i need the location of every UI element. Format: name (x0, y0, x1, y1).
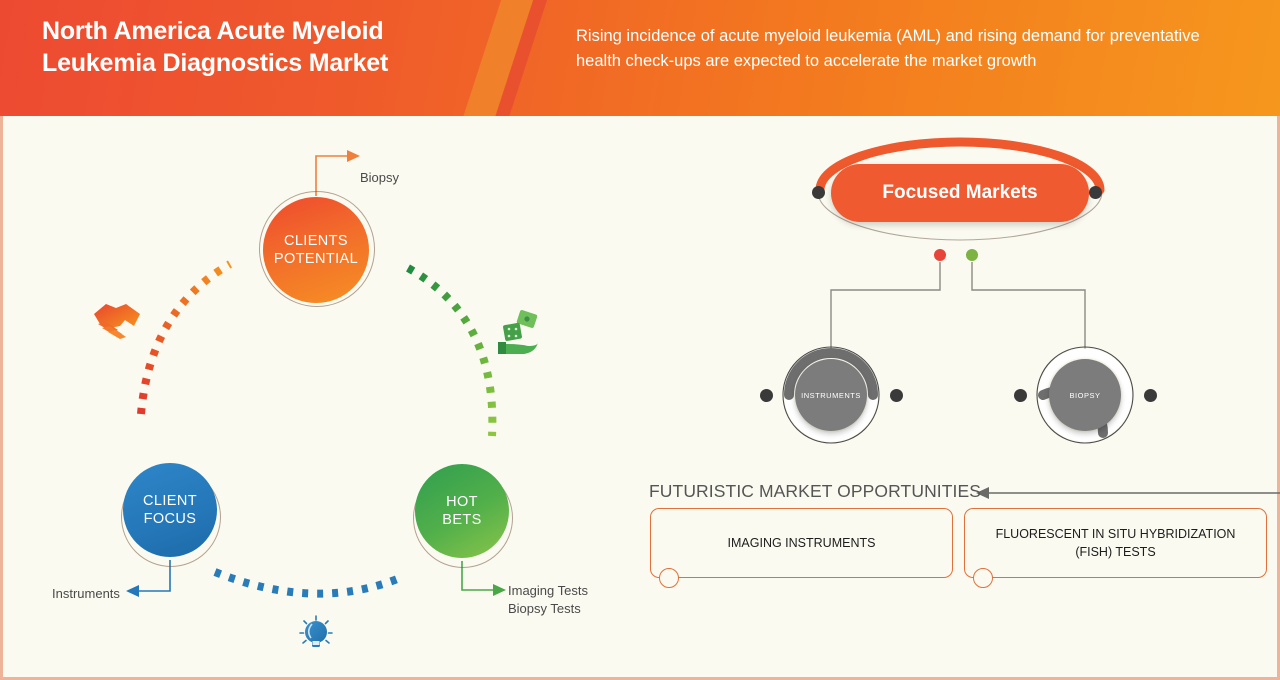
opportunity-box-fish-tests[interactable]: FLUORESCENT IN SITU HYBRIDIZATION (FISH)… (964, 508, 1267, 578)
futuristic-heading: FUTURISTIC MARKET OPPORTUNITIES (649, 481, 981, 502)
bubble-clients-line2: POTENTIAL (274, 251, 358, 267)
page-title: North America Acute Myeloid Leukemia Dia… (42, 15, 492, 79)
bubble-client-focus[interactable]: CLIENT FOCUS (123, 463, 217, 557)
callout-biopsy: Biopsy (360, 169, 399, 187)
instruments-gauge-left-dot (760, 389, 773, 402)
biopsy-gauge-right-dot (1144, 389, 1157, 402)
bubble-clients-line1: CLIENTS (284, 233, 348, 249)
bubble-clients-potential[interactable]: CLIENTS POTENTIAL (263, 197, 369, 303)
bubble-focus-line1: CLIENT (143, 493, 197, 509)
infographic-page: North America Acute Myeloid Leukemia Dia… (0, 0, 1280, 680)
header-subtitle: Rising incidence of acute myeloid leukem… (576, 24, 1226, 74)
pill-right-dot (1089, 186, 1102, 199)
bubble-hot-line1: HOT (446, 494, 478, 510)
bubble-hot-line2: BETS (442, 512, 481, 528)
callout-tests: Imaging Tests Biopsy Tests (508, 582, 588, 617)
opportunity-knob-fish-tests (973, 568, 993, 588)
gauge-label-instruments[interactable]: INSTRUMENTS (795, 359, 867, 431)
opportunity-knob-imaging-instruments (659, 568, 679, 588)
callout-tests-line2: Biopsy Tests (508, 601, 581, 616)
pill-left-dot (812, 186, 825, 199)
gauge-label-biopsy[interactable]: BIOPSY (1049, 359, 1121, 431)
callout-instruments: Instruments (52, 585, 120, 603)
bubble-hot-bets[interactable]: HOT BETS (415, 464, 509, 558)
red-dot (934, 249, 946, 261)
green-dot (966, 249, 978, 261)
biopsy-gauge-left-dot (1014, 389, 1027, 402)
instruments-gauge-right-dot (890, 389, 903, 402)
opportunity-box-imaging-instruments[interactable]: IMAGING INSTRUMENTS (650, 508, 953, 578)
bubble-focus-line2: FOCUS (144, 511, 197, 527)
focused-markets-pill[interactable]: Focused Markets (831, 164, 1089, 222)
callout-tests-line1: Imaging Tests (508, 583, 588, 598)
header-banner: North America Acute Myeloid Leukemia Dia… (0, 0, 1280, 116)
